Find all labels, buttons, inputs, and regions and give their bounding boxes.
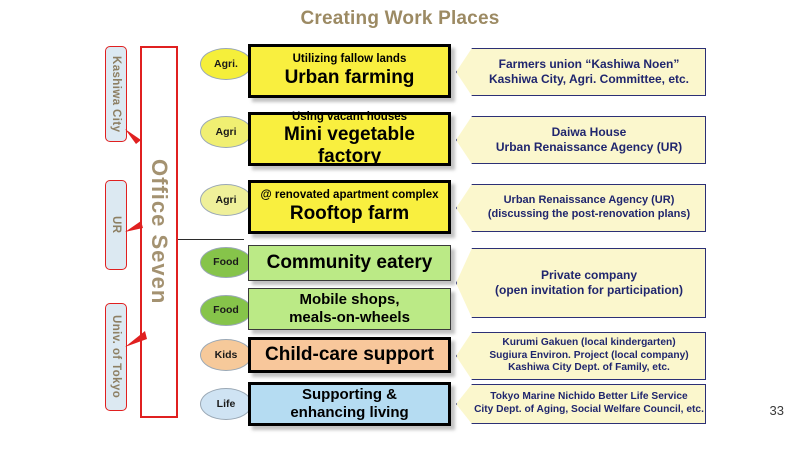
callout-line: City Dept. of Aging, Social Welfare Coun… [474, 404, 704, 417]
item-title: Mini vegetable factory [251, 124, 448, 168]
callout-line: Kurumi Gakuen (local kindergarten) [502, 337, 675, 350]
category-tag-agri-1: Agri. [200, 48, 252, 80]
category-tag-food-1: Food [200, 247, 252, 278]
callout-line: (discussing the post-renovation plans) [488, 208, 690, 222]
item-subtitle: Using vacant houses [292, 111, 407, 124]
item-subtitle: @ renovated apartment complex [260, 189, 438, 202]
connector-arrow-univ-tokyo [124, 328, 150, 350]
connector-arrow-ur [124, 216, 146, 236]
item-box-mobile-shops[interactable]: Mobile shops, meals-on-wheels [248, 288, 451, 330]
item-title: Mobile shops, meals-on-wheels [289, 291, 410, 327]
item-box-child-care-support[interactable]: Child-care support [248, 337, 451, 373]
org-label-text: Kashiwa City [110, 56, 122, 132]
callout-food: Private company (open invitation for par… [456, 248, 706, 318]
item-title: Rooftop farm [290, 203, 409, 225]
callout-rooftop-farm: Urban Renaissance Agency (UR) (discussin… [456, 184, 706, 232]
item-subtitle: Utilizing fallow lands [293, 53, 407, 66]
callout-mini-vegetable-factory: Daiwa House Urban Renaissance Agency (UR… [456, 116, 706, 164]
org-label-text: Univ. of Tokyo [110, 315, 122, 398]
item-title: Community eatery [267, 252, 433, 274]
category-tag-label: Agri [216, 127, 237, 138]
callout-line: (open invitation for participation) [495, 283, 683, 298]
category-tag-label: Agri [216, 195, 237, 206]
category-tag-kids: Kids [200, 339, 252, 371]
page-title: Creating Work Places [0, 8, 800, 30]
item-title: Urban farming [285, 67, 415, 89]
item-box-community-eatery[interactable]: Community eatery [248, 245, 451, 281]
callout-urban-farming: Farmers union “Kashiwa Noen” Kashiwa Cit… [456, 48, 706, 96]
item-title: Supporting & enhancing living [290, 386, 408, 422]
category-tag-label: Food [213, 305, 239, 316]
callout-line: Urban Renaissance Agency (UR) [504, 194, 675, 208]
item-box-supporting-enhancing-living[interactable]: Supporting & enhancing living [248, 382, 451, 426]
callout-life: Tokyo Marine Nichido Better Life Service… [456, 384, 706, 424]
org-label-text: UR [110, 216, 122, 233]
group-divider [178, 239, 244, 240]
category-tag-label: Agri. [214, 59, 238, 70]
callout-line: Private company [541, 268, 637, 283]
category-tag-life: Life [200, 388, 252, 420]
page-number: 33 [770, 403, 784, 418]
callout-line: Daiwa House [552, 125, 627, 140]
category-tag-label: Food [213, 257, 239, 268]
item-box-urban-farming[interactable]: Utilizing fallow lands Urban farming [248, 44, 451, 98]
connector-arrow-kashiwa-city [124, 127, 146, 147]
category-tag-agri-2: Agri [200, 116, 252, 148]
callout-child-care: Kurumi Gakuen (local kindergarten) Sugiu… [456, 332, 706, 380]
callout-line: Tokyo Marine Nichido Better Life Service [490, 391, 687, 404]
callout-line: Kashiwa City Dept. of Family, etc. [508, 362, 670, 375]
item-box-rooftop-farm[interactable]: @ renovated apartment complex Rooftop fa… [248, 180, 451, 234]
category-tag-food-2: Food [200, 295, 252, 326]
callout-line: Sugiura Environ. Project (local company) [489, 350, 688, 363]
item-title: Child-care support [265, 344, 434, 366]
category-tag-label: Life [217, 399, 236, 410]
slide-canvas: Creating Work Places Kashiwa City UR Uni… [0, 0, 800, 450]
category-tag-agri-3: Agri [200, 184, 252, 216]
category-tag-label: Kids [215, 350, 238, 361]
callout-line: Farmers union “Kashiwa Noen” [499, 57, 680, 72]
callout-line: Urban Renaissance Agency (UR) [496, 140, 682, 155]
office-seven-label: Office Seven [146, 159, 172, 304]
callout-line: Kashiwa City, Agri. Committee, etc. [489, 72, 689, 87]
item-box-mini-vegetable-factory[interactable]: Using vacant houses Mini vegetable facto… [248, 112, 451, 166]
org-label-univ-of-tokyo: Univ. of Tokyo [105, 303, 127, 411]
